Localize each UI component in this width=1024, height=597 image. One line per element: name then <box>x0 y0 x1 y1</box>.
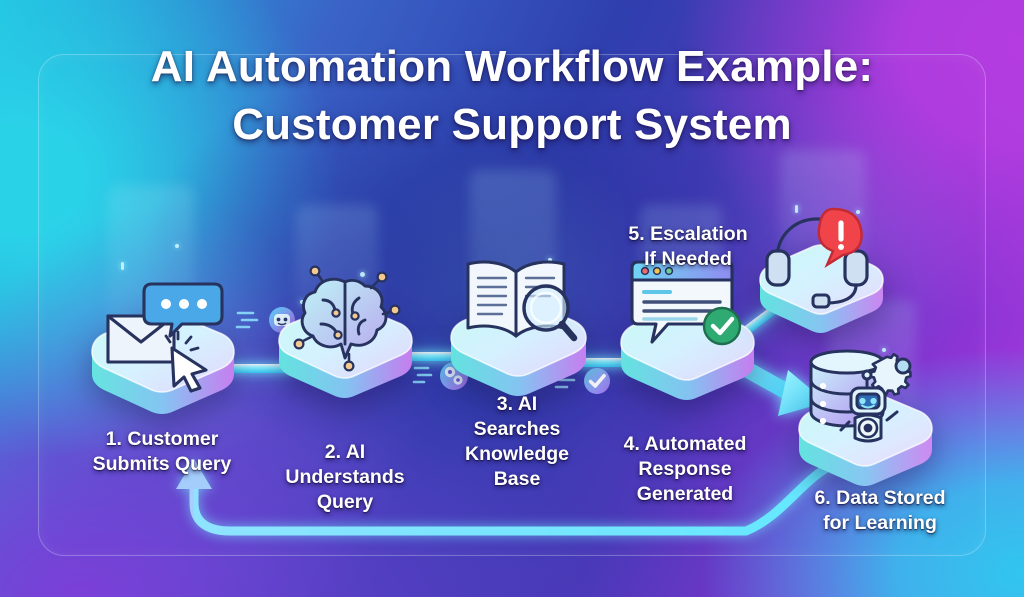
platform-1 <box>82 300 242 415</box>
workflow-step-3[interactable] <box>442 288 594 398</box>
workflow-step-6[interactable] <box>790 380 940 488</box>
platform-3 <box>442 288 594 398</box>
sparkle <box>872 362 875 365</box>
platform-4 <box>612 294 762 402</box>
workflow-step-2-label: 2. AI Understands Query <box>250 440 440 515</box>
platform-6 <box>790 380 940 488</box>
sparkle <box>882 348 886 352</box>
sparkle <box>121 262 124 270</box>
infographic-canvas: AI Automation Workflow Example: Customer… <box>0 0 1024 597</box>
workflow-step-4[interactable] <box>612 294 762 402</box>
workflow-step-3-label: 3. AI Searches Knowledge Base <box>428 392 606 492</box>
sparkle <box>856 210 860 214</box>
workflow-step-6-label: 6. Data Stored for Learning <box>784 486 976 536</box>
workflow-step-4-label: 4. Automated Response Generated <box>590 432 780 507</box>
platform-2 <box>270 292 420 400</box>
workflow-step-1-label: 1. Customer Submits Query <box>62 427 262 477</box>
workflow-step-2[interactable] <box>270 292 420 400</box>
page-title: AI Automation Workflow Example: Customer… <box>0 38 1024 154</box>
sparkle <box>360 272 365 277</box>
sparkle <box>795 205 798 213</box>
workflow-step-1[interactable] <box>82 300 242 415</box>
workflow-step-5-label: 5. Escalation If Needed <box>588 222 788 272</box>
sparkle <box>548 258 552 262</box>
sparkle <box>175 244 179 248</box>
